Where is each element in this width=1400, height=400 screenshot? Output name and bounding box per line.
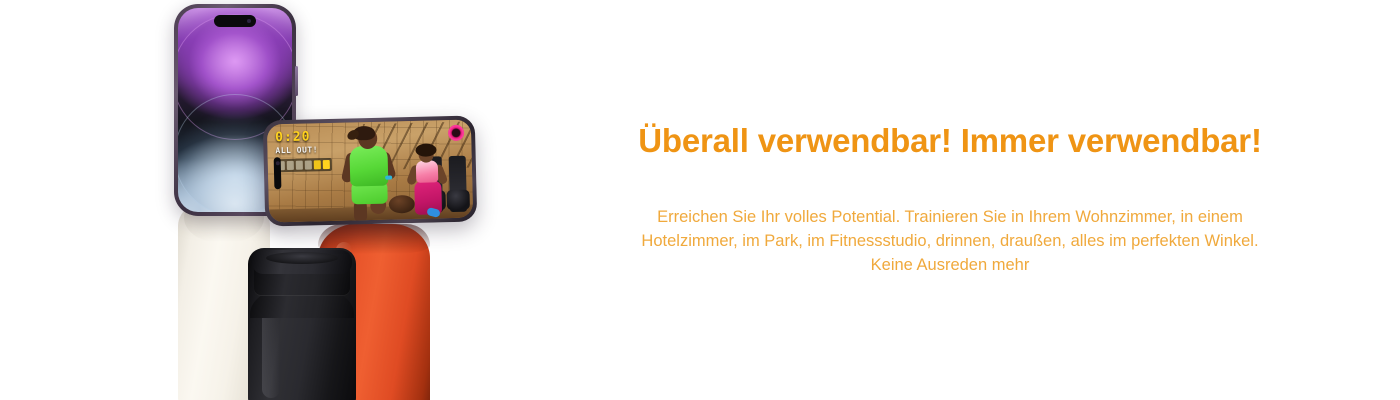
- athlete-female: [407, 146, 449, 217]
- marketing-copy: Überall verwendbar! Immer verwendbar! Er…: [560, 0, 1340, 400]
- progress-segment: [305, 160, 312, 169]
- workout-intensity-label: ALL OUT!: [275, 146, 333, 155]
- dynamic-island-icon: [274, 157, 282, 189]
- athlete-male-shirt: [349, 146, 388, 187]
- athlete-male-wristband: [385, 175, 392, 179]
- gym-equipment-rack: [449, 156, 467, 212]
- landscape-phone: 0:20 ALL OUT!: [263, 115, 478, 226]
- progress-segment: [323, 160, 330, 169]
- progress-segment: [314, 160, 321, 169]
- workout-timer: 0:20: [275, 130, 333, 144]
- athlete-female-top: [416, 160, 439, 183]
- workout-hud: 0:20 ALL OUT!: [275, 130, 334, 172]
- progress-segment: [287, 161, 294, 170]
- progress-segment: [296, 161, 303, 170]
- black-bottle-lid-rim: [266, 252, 338, 264]
- landscape-phone-screen: 0:20 ALL OUT!: [267, 120, 473, 223]
- workout-progress-bar: [276, 158, 332, 172]
- dynamic-island-icon: [214, 15, 256, 27]
- hero-banner: 0:20 ALL OUT! Überall verwendbar! I: [0, 0, 1400, 400]
- product-visual: 0:20 ALL OUT!: [0, 0, 520, 400]
- phone-side-button: [295, 66, 298, 96]
- page-subtitle: Erreichen Sie Ihr volles Potential. Trai…: [620, 206, 1280, 278]
- page-title: Überall verwendbar! Immer verwendbar!: [638, 122, 1261, 160]
- athlete-male: [341, 127, 397, 220]
